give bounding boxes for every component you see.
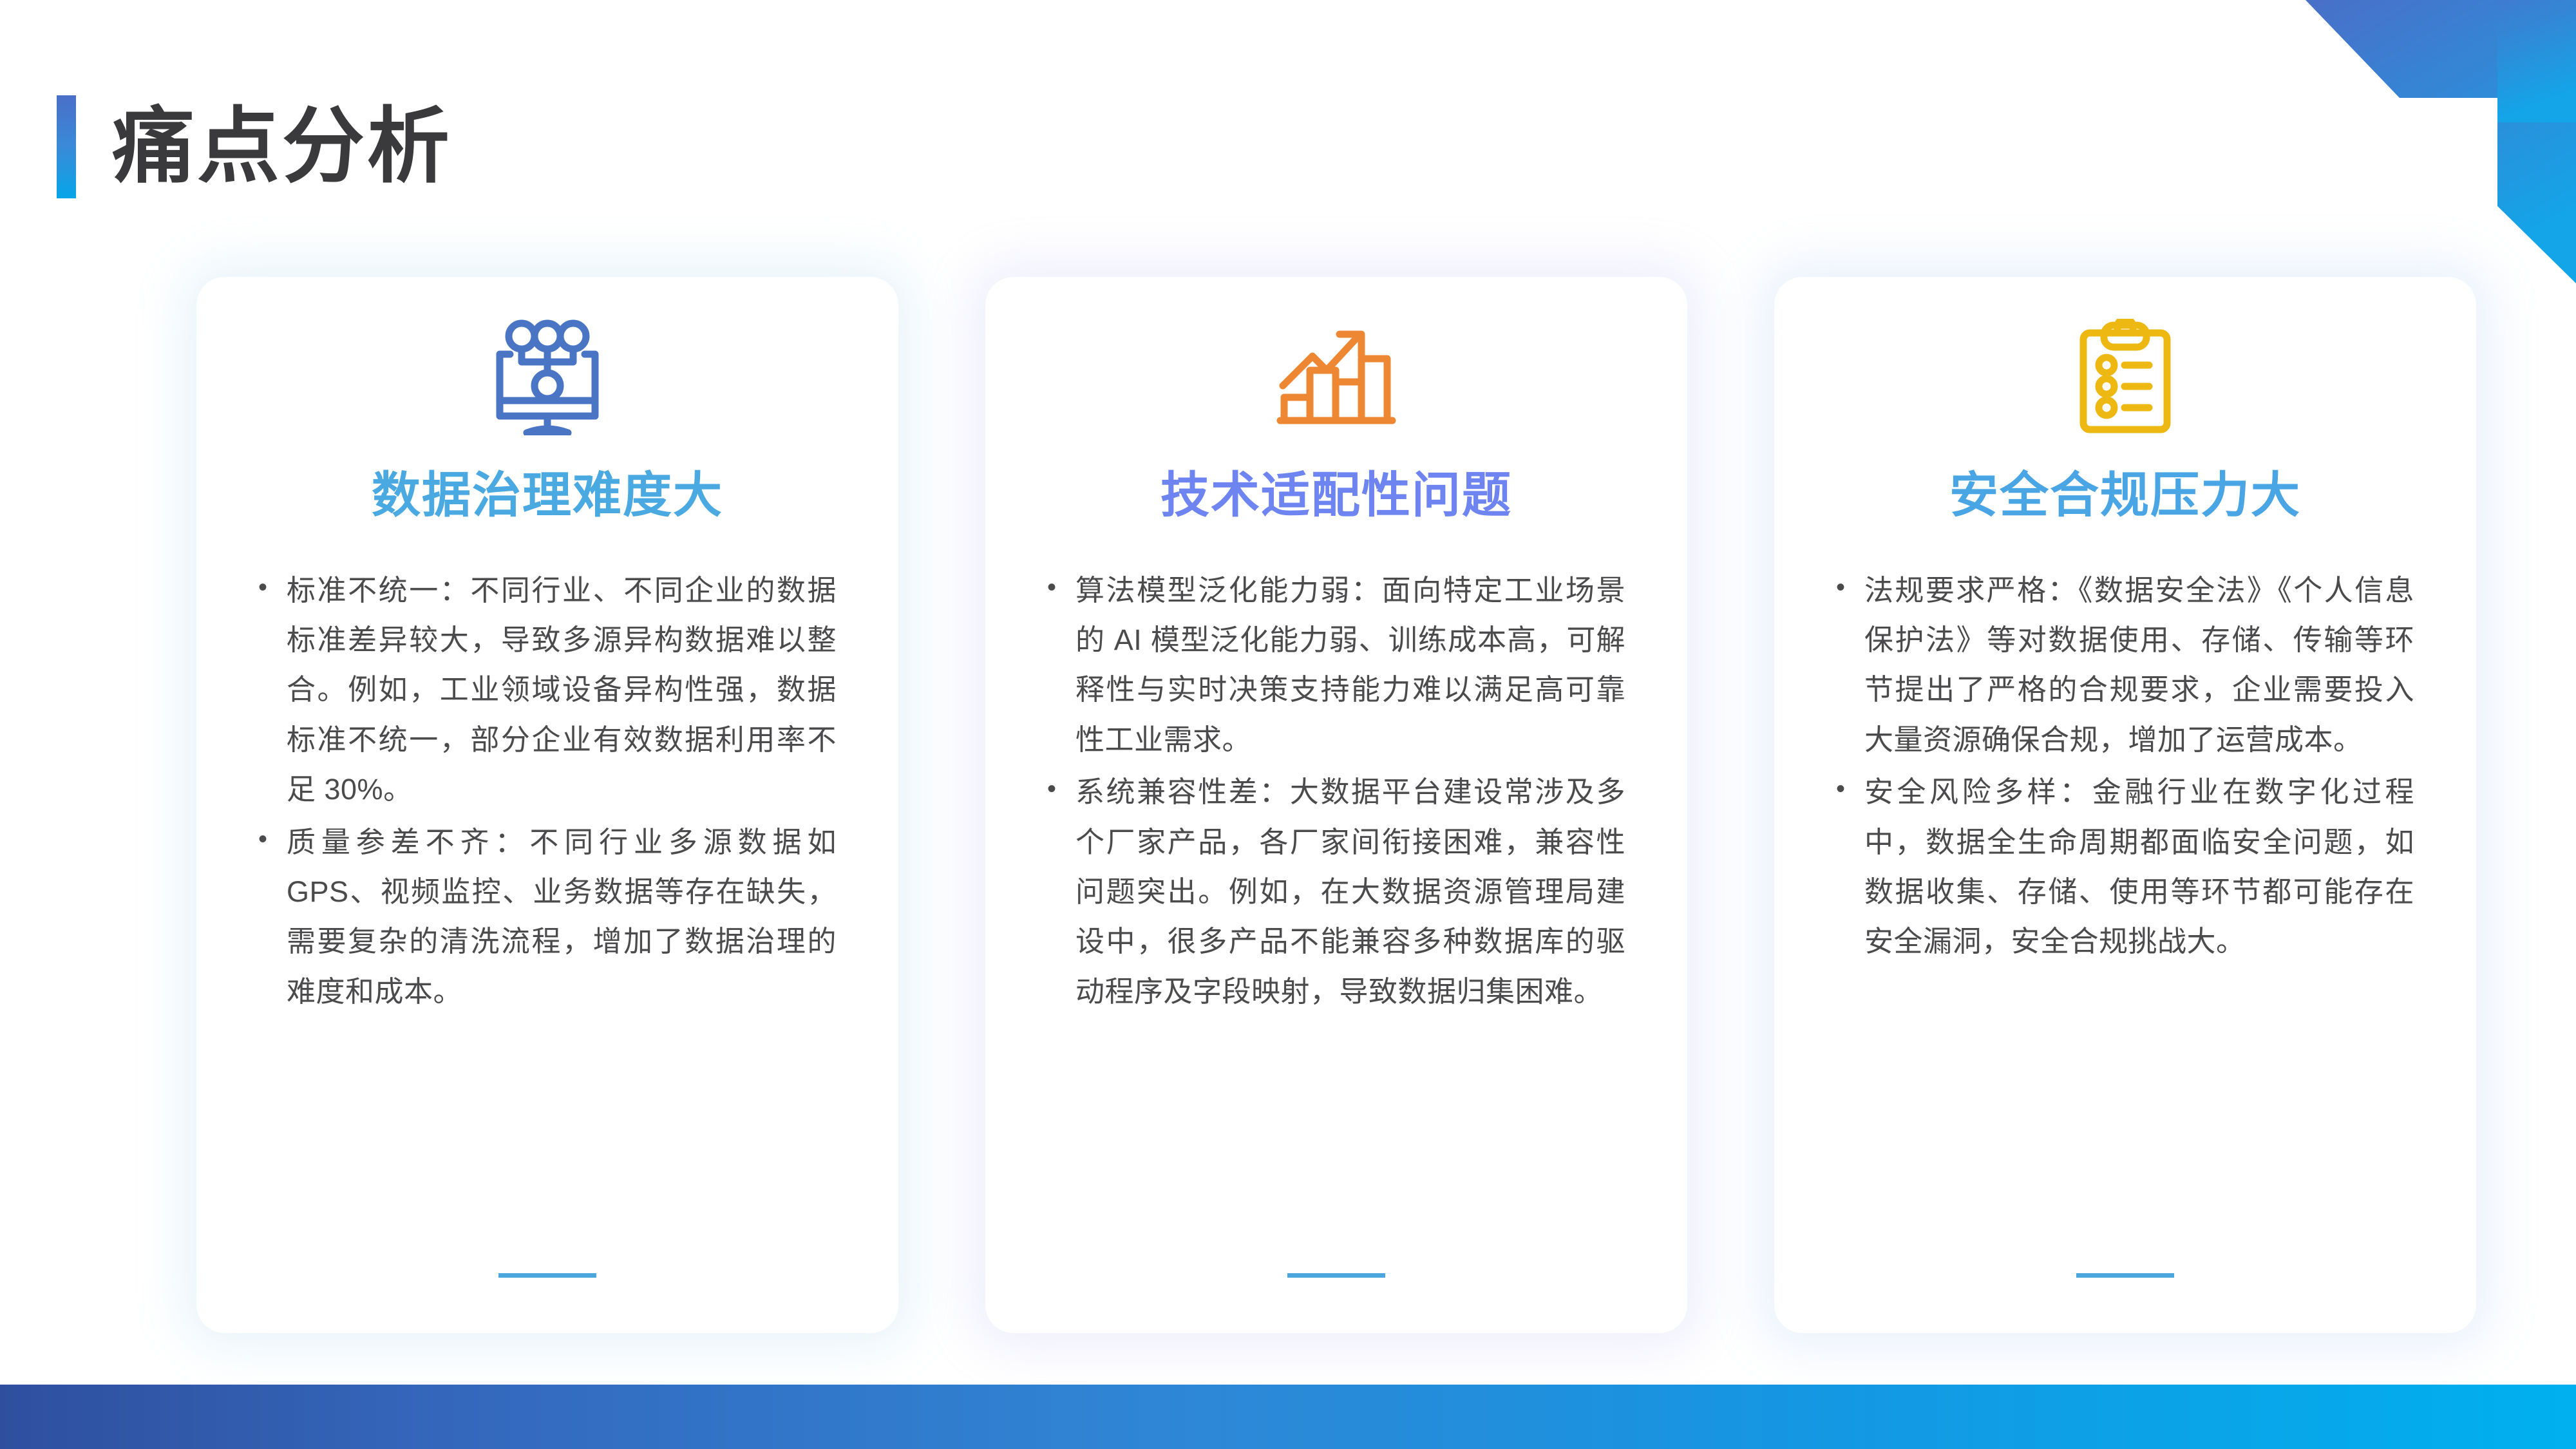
list-item: • 安全风险多样：金融行业在数字化过程中，数据全生命周期都面临安全问题，如数据收… — [1836, 767, 2414, 967]
pain-point-card-list: 数据治理难度大 • 标准不统一：不同行业、不同企业的数据标准差异较大，导致多源异… — [0, 277, 2576, 1333]
bullet-text: 法规要求严格：《数据安全法》《个人信息保护法》等对数据使用、存储、传输等环节提出… — [1864, 565, 2414, 765]
bullet-marker: • — [1836, 565, 1864, 610]
list-item: • 算法模型泛化能力弱：面向特定工业场景的 AI 模型泛化能力弱、训练成本高，可… — [1047, 565, 1625, 765]
bullet-text: 标准不统一：不同行业、不同企业的数据标准差异较大，导致多源异构数据难以整合。例如… — [287, 565, 837, 815]
card-bullet-list: • 算法模型泛化能力弱：面向特定工业场景的 AI 模型泛化能力弱、训练成本高，可… — [1047, 565, 1625, 1017]
list-item: • 标准不统一：不同行业、不同企业的数据标准差异较大，导致多源异构数据难以整合。… — [258, 565, 837, 815]
pain-point-card[interactable]: 安全合规压力大 • 法规要求严格：《数据安全法》《个人信息保护法》等对数据使用、… — [1774, 277, 2476, 1333]
bullet-text: 安全风险多样：金融行业在数字化过程中，数据全生命周期都面临安全问题，如数据收集、… — [1864, 767, 2414, 967]
card-title: 技术适配性问题 — [1047, 469, 1625, 523]
bullet-marker: • — [1836, 767, 1864, 811]
card-underline-accent — [498, 1273, 596, 1278]
card-bullet-list: • 法规要求严格：《数据安全法》《个人信息保护法》等对数据使用、存储、传输等环节… — [1836, 565, 2414, 967]
list-item: • 质量参差不齐：不同行业多源数据如 GPS、视频监控、业务数据等存在缺失，需要… — [258, 817, 837, 1017]
card-title: 数据治理难度大 — [258, 469, 837, 523]
corner-decoration — [2306, 0, 2576, 283]
pain-point-card[interactable]: 技术适配性问题 • 算法模型泛化能力弱：面向特定工业场景的 AI 模型泛化能力弱… — [985, 277, 1687, 1333]
list-item: • 系统兼容性差：大数据平台建设常涉及多个厂家产品，各厂家间衔接困难，兼容性问题… — [1047, 767, 1625, 1016]
list-item: • 法规要求严格：《数据安全法》《个人信息保护法》等对数据使用、存储、传输等环节… — [1836, 565, 2414, 765]
bullet-text: 系统兼容性差：大数据平台建设常涉及多个厂家产品，各厂家间衔接困难，兼容性问题突出… — [1075, 767, 1625, 1016]
bullet-text: 质量参差不齐：不同行业多源数据如 GPS、视频监控、业务数据等存在缺失，需要复杂… — [287, 817, 837, 1017]
clipboard-checklist-icon — [1836, 277, 2414, 457]
card-underline-accent — [1287, 1273, 1385, 1278]
bullet-marker: • — [258, 817, 287, 862]
bullet-marker: • — [1047, 767, 1075, 811]
page-title-row: 痛点分析 — [57, 95, 452, 198]
bottom-gradient-bar — [0, 1385, 2576, 1449]
card-title: 安全合规压力大 — [1836, 469, 2414, 523]
card-bullet-list: • 标准不统一：不同行业、不同企业的数据标准差异较大，导致多源异构数据难以整合。… — [258, 565, 837, 1017]
card-underline-accent — [2076, 1273, 2174, 1278]
bullet-marker: • — [1047, 565, 1075, 610]
bar-chart-growth-icon — [1047, 277, 1625, 457]
bullet-text: 算法模型泛化能力弱：面向特定工业场景的 AI 模型泛化能力弱、训练成本高，可解释… — [1075, 565, 1625, 765]
title-accent-bar — [57, 95, 76, 198]
page-title: 痛点分析 — [112, 106, 452, 188]
monitor-network-icon — [258, 277, 837, 457]
bullet-marker: • — [258, 565, 287, 610]
pain-point-card[interactable]: 数据治理难度大 • 标准不统一：不同行业、不同企业的数据标准差异较大，导致多源异… — [196, 277, 898, 1333]
